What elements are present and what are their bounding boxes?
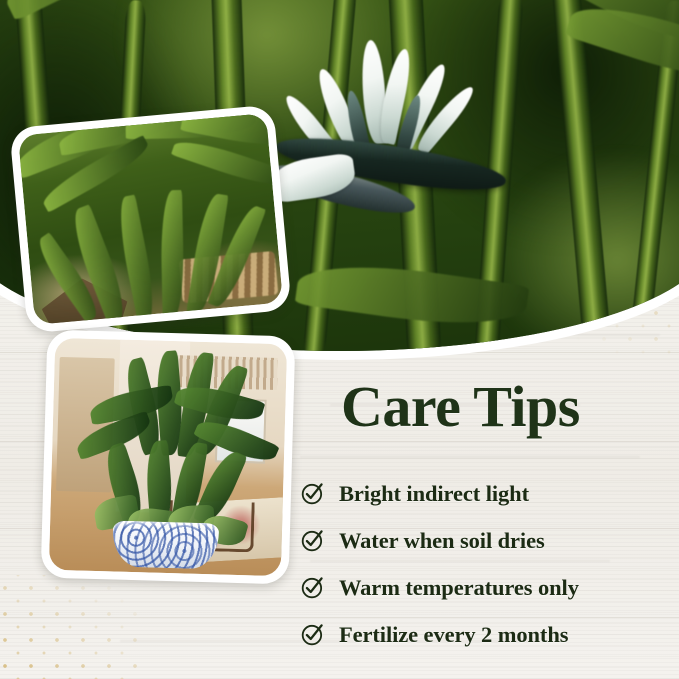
list-item: Warm temperatures only [300,564,672,611]
page-title: Care Tips [341,378,580,436]
list-item: Bright indirect light [300,470,672,517]
check-circle-icon [300,528,325,553]
list-item-label: Water when soil dries [339,528,545,554]
check-circle-icon [300,575,325,600]
check-circle-icon [300,481,325,506]
bird-of-paradise-bloom [267,38,517,228]
indoor-potted-plant-photo [41,330,296,585]
outdoor-tropical-garden-photo [9,104,292,333]
list-item-label: Bright indirect light [339,481,529,507]
list-item: Fertilize every 2 months [300,611,672,658]
porcelain-planter [112,520,220,569]
list-item-label: Fertilize every 2 months [339,622,568,648]
care-tips-list: Bright indirect light Water when soil dr… [300,470,672,658]
gold-dot-pattern-bottom-left [0,575,142,679]
wood-grain-streak [300,456,640,458]
care-tips-infographic: Care Tips Bright indirect light Water wh… [0,0,679,679]
list-item-label: Warm temperatures only [339,575,579,601]
list-item: Water when soil dries [300,517,672,564]
check-circle-icon [300,622,325,647]
